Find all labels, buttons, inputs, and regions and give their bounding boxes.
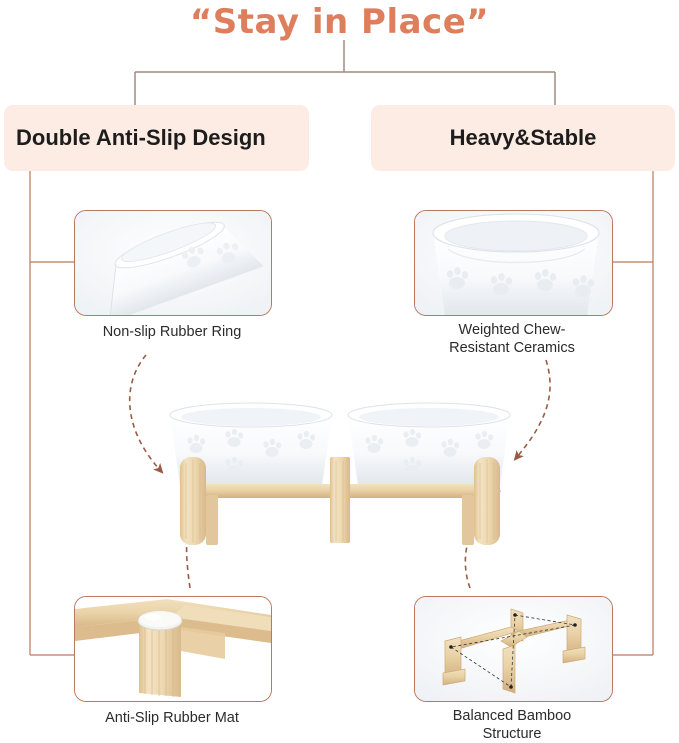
- feature-image-balanced-bamboo-structure: [414, 596, 613, 702]
- category-box-double-anti-slip-design: Double Anti-Slip Design: [4, 105, 309, 171]
- caption-line: Structure: [404, 726, 620, 743]
- double-bowl-bamboo-stand-illustration: [150, 385, 530, 560]
- feature-image-anti-slip-rubber-mat: [74, 596, 272, 702]
- feature-image-weighted-chew-resistant-ceramics: [414, 210, 613, 316]
- bamboo-leg-rubber-foot-illustration: [75, 597, 271, 701]
- bamboo-frame-balance-illustration: [415, 597, 612, 701]
- caption-line: Balanced Bamboo: [404, 708, 620, 726]
- caption-line: Weighted Chew-: [404, 322, 620, 340]
- feature-caption-non-slip-rubber-ring: Non-slip Rubber Ring: [64, 324, 280, 342]
- caption-line: Anti-Slip Rubber Mat: [64, 710, 280, 728]
- feature-image-non-slip-rubber-ring: [74, 210, 272, 316]
- feature-caption-anti-slip-rubber-mat: Anti-Slip Rubber Mat: [64, 710, 280, 728]
- feature-caption-balanced-bamboo-structure: Balanced Bamboo Structure: [404, 708, 620, 743]
- hero-product-image: [150, 385, 530, 560]
- bowl-underside-illustration: [75, 211, 271, 315]
- feature-caption-weighted-chew-resistant-ceramics: Weighted Chew- Resistant Ceramics: [404, 322, 620, 357]
- page-title: “Stay in Place”: [0, 2, 679, 42]
- ceramic-bowl-closeup-illustration: [415, 211, 612, 315]
- caption-line: Non-slip Rubber Ring: [64, 324, 280, 342]
- infographic-page: “Stay in Place”: [0, 0, 679, 743]
- category-box-heavy-and-stable: Heavy&Stable: [371, 105, 675, 171]
- caption-line: Resistant Ceramics: [404, 340, 620, 358]
